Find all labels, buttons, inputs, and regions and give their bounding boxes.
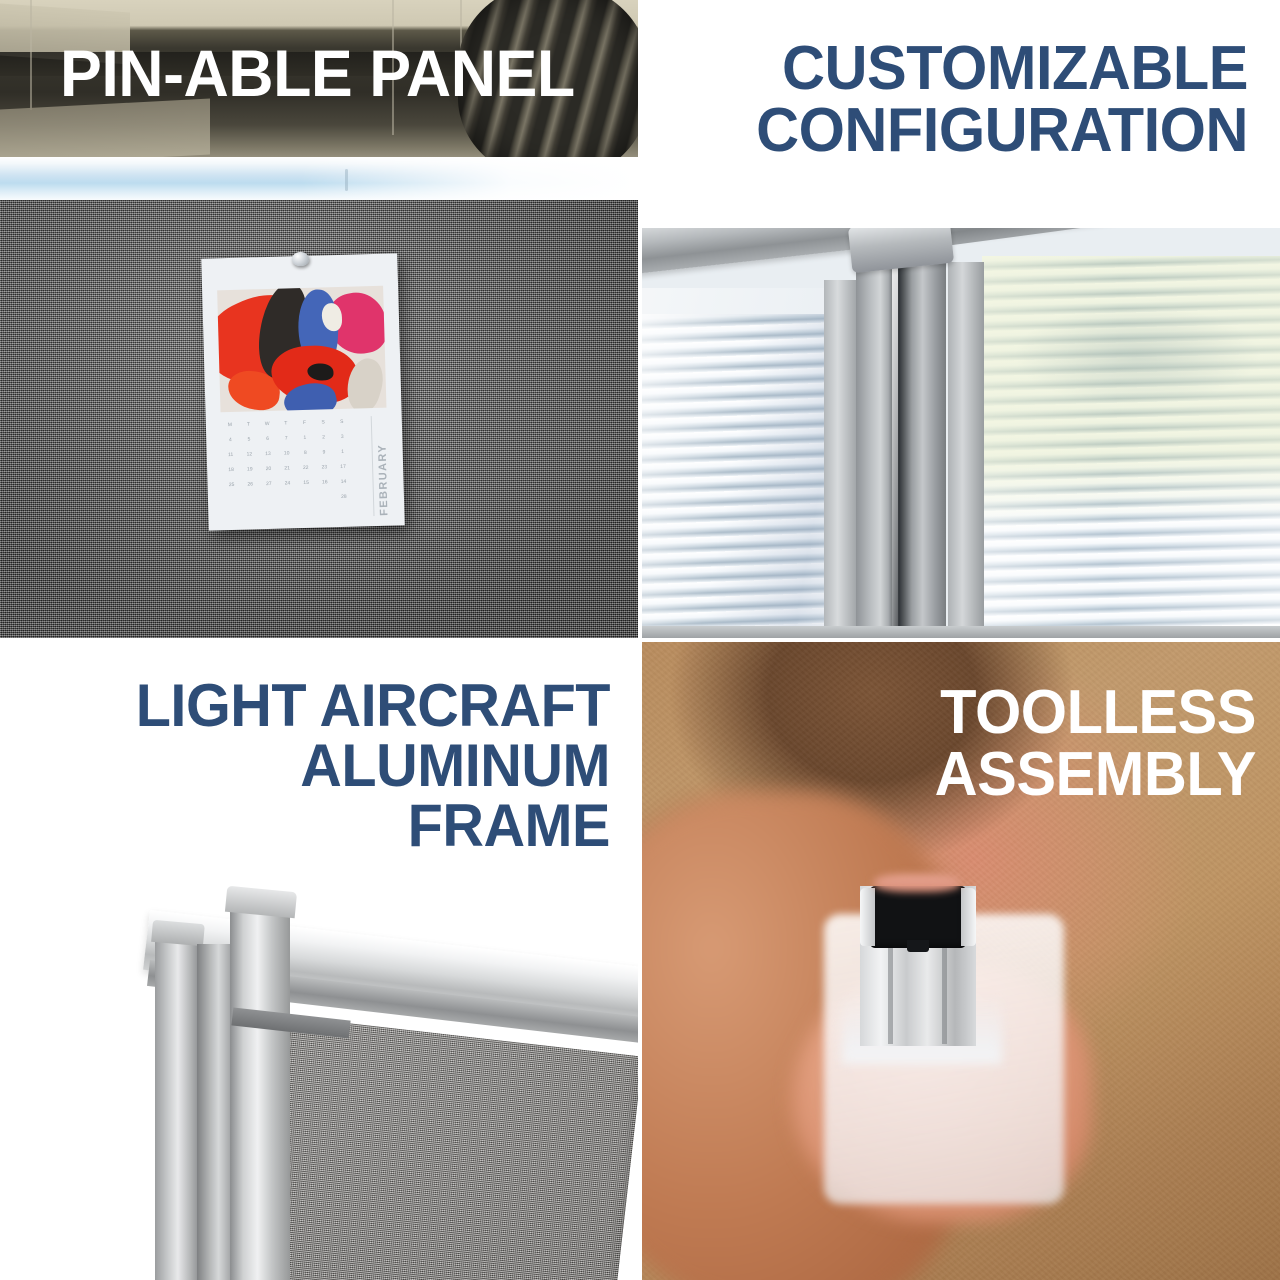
frame-post-corner xyxy=(230,904,290,1280)
calendar-day xyxy=(317,494,333,509)
headline-pin-able-panel: PIN-ABLE PANEL xyxy=(60,40,602,106)
headline-line-2: ALUMINUM xyxy=(53,736,610,796)
calendar-day xyxy=(299,495,315,510)
partition-post-photo xyxy=(642,228,1280,638)
frame-post-middle xyxy=(197,944,233,1280)
frame-mullion-right xyxy=(948,262,984,638)
lower-rail xyxy=(642,626,1280,638)
headline-light-aircraft-aluminum-frame: LIGHT AIRCRAFT ALUMINUM FRAME xyxy=(53,676,610,856)
calendar-day: 5 xyxy=(241,436,257,451)
calendar-day: 1 xyxy=(335,449,351,464)
headline-customizable-configuration: CUSTOMIZABLE CONFIGURATION xyxy=(710,38,1248,162)
calendar-day: 1 xyxy=(297,435,313,450)
calendar-weekday: T xyxy=(278,420,294,435)
headline-line-2: CONFIGURATION xyxy=(710,100,1248,162)
calendar-divider xyxy=(371,416,375,516)
calendar-day xyxy=(261,496,277,511)
calendar-day: 7 xyxy=(278,435,294,450)
calendar-weekday: M xyxy=(222,422,238,437)
headline-line-1: CUSTOMIZABLE xyxy=(710,38,1248,100)
calendar-weekday: T xyxy=(240,421,256,436)
calendar-day: 19 xyxy=(242,466,258,481)
channel-rib xyxy=(942,948,947,1044)
calendar-day: 12 xyxy=(241,451,257,466)
channel-lip-left xyxy=(860,888,875,946)
calendar-day: 16 xyxy=(317,479,333,494)
headline-line-1: LIGHT AIRCRAFT xyxy=(53,676,610,736)
channel-lip-right xyxy=(961,888,976,946)
calendar-weekday: S xyxy=(334,419,350,434)
top-rail-right xyxy=(942,228,1280,246)
calendar-day xyxy=(280,495,296,510)
rail-marker xyxy=(345,169,348,191)
calendar-day: 28 xyxy=(336,494,352,509)
panel-customizable-configuration: CUSTOMIZABLE CONFIGURATION xyxy=(642,0,1280,638)
calendar-day: 2 xyxy=(315,434,331,449)
channel-notch xyxy=(907,940,929,952)
calendar-weekday: S xyxy=(315,419,331,434)
push-pin-icon xyxy=(292,252,309,266)
headline-line-3: FRAME xyxy=(53,796,610,856)
calendar-day: 26 xyxy=(242,481,258,496)
panel-light-aircraft-aluminum-frame: LIGHT AIRCRAFT ALUMINUM FRAME xyxy=(0,642,638,1280)
calendar-day: 14 xyxy=(335,479,351,494)
calendar-day: 17 xyxy=(335,464,351,479)
calendar-day: 10 xyxy=(279,450,295,465)
calendar-artwork xyxy=(217,286,386,413)
fingertip-blur xyxy=(874,874,960,892)
calendar-day: 25 xyxy=(223,482,239,497)
calendar-day: 13 xyxy=(260,451,276,466)
frame-post-outer-cap xyxy=(151,920,205,946)
calendar-day: 22 xyxy=(298,465,314,480)
panel-pin-able-panel: M T W T F S S 4 5 6 7 1 2 3 xyxy=(0,0,638,638)
calendar-day: 27 xyxy=(261,481,277,496)
calendar-day xyxy=(224,497,240,512)
post-highlight xyxy=(892,268,898,638)
calendar-day: 4 xyxy=(222,437,238,452)
feature-collage: M T W T F S S 4 5 6 7 1 2 3 xyxy=(0,0,1280,1280)
calendar-week-row: 28 xyxy=(224,494,352,513)
calendar-day: 9 xyxy=(316,449,332,464)
panel-toolless-assembly: TOOLLESS ASSEMBLY xyxy=(642,642,1280,1280)
calendar-day: 15 xyxy=(298,480,314,495)
channel-slot-cavity xyxy=(870,886,966,948)
pinned-calendar: M T W T F S S 4 5 6 7 1 2 3 xyxy=(201,253,405,530)
calendar-day: 20 xyxy=(260,466,276,481)
calendar-day: 11 xyxy=(223,452,239,467)
aluminum-connector-post xyxy=(856,232,946,638)
frame-post-outer xyxy=(155,934,199,1280)
calendar-weekday: F xyxy=(296,420,312,435)
panel-top-rail-light xyxy=(0,157,638,202)
calendar-day: 6 xyxy=(260,436,276,451)
channel-rib xyxy=(888,948,893,1044)
calendar-day: 21 xyxy=(279,465,295,480)
headline-line-1: TOOLLESS xyxy=(757,682,1256,744)
calendar-day: 23 xyxy=(316,464,332,479)
window-blinds-right xyxy=(982,256,1280,638)
calendar-month-label: FEBRUARY xyxy=(376,419,399,516)
calendar-day: 8 xyxy=(297,450,313,465)
calendar-weekday: W xyxy=(259,421,275,436)
headline-toolless-assembly: TOOLLESS ASSEMBLY xyxy=(757,682,1256,806)
calendar-day: 18 xyxy=(223,467,239,482)
calendar-date-grid: M T W T F S S 4 5 6 7 1 2 3 xyxy=(222,419,353,515)
frame-mullion-left xyxy=(824,280,858,638)
calendar-day: 3 xyxy=(334,434,350,449)
calendar-day: 24 xyxy=(279,480,295,495)
calendar-day xyxy=(243,496,259,511)
hanger-wire xyxy=(30,0,32,110)
headline-line-2: ASSEMBLY xyxy=(757,744,1256,806)
